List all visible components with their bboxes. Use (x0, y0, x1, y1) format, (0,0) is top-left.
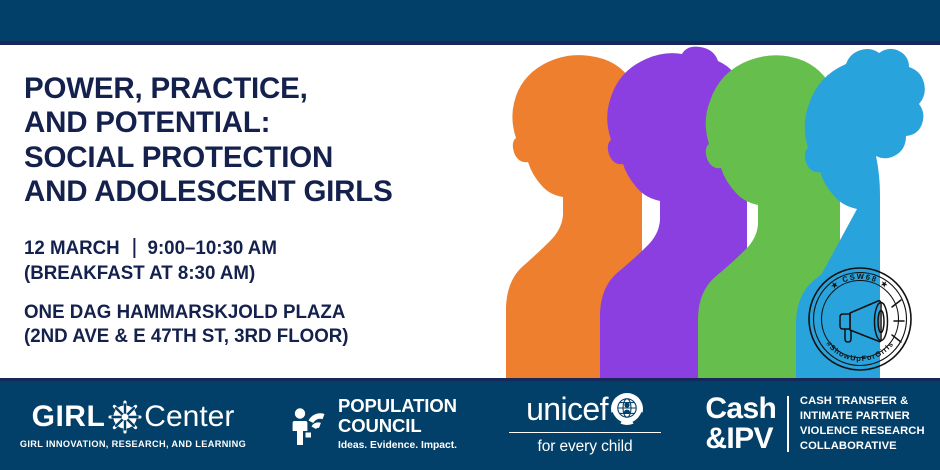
unicef-tagline: for every child (509, 438, 661, 456)
event-venue: ONE DAG HAMMARSKJOLD PLAZA (24, 300, 349, 325)
partner-logos: GIRL (0, 378, 940, 470)
person-broadcast-icon (289, 401, 329, 447)
event-date: 12 MARCH (24, 236, 120, 261)
population-council-tagline: Ideas. Evidence. Impact. (338, 441, 457, 452)
badge-event-text: ★ CSW68 ★ (829, 272, 891, 291)
logo-cash-ipv: Cash &IPV CASH TRANSFER & INTIMATE PARTN… (690, 378, 940, 470)
population-council-line2: COUNCIL (338, 416, 457, 435)
top-band-rule (0, 41, 940, 45)
unicef-globe-icon (610, 392, 644, 426)
cash-ipv-line2: &IPV (705, 424, 776, 454)
badge-hashtag-text: #ShowUpForGirls (824, 339, 895, 363)
megaphone-badge: ★ CSW68 ★ #ShowUpForGirls (804, 263, 916, 375)
logo-unicef: unicef (480, 378, 690, 470)
cash-ipv-divider (787, 396, 789, 452)
event-address: (2ND AVE & E 47TH ST, 3RD FLOOR) (24, 324, 349, 349)
unicef-wordmark: unicef (526, 393, 608, 425)
starburst-icon (108, 400, 142, 434)
badge-inner-ring (814, 273, 907, 366)
unicef-divider (509, 432, 661, 434)
logo-population-council: POPULATION COUNCIL Ideas. Evidence. Impa… (266, 378, 480, 470)
event-banner: ON THE SIDELINES OF CSW68 POWER, PRACTIC… (0, 0, 940, 470)
page-title: POWER, PRACTICE, AND POTENTIAL: SOCIAL P… (24, 72, 393, 209)
event-time: 9:00–10:30 AM (148, 236, 277, 261)
population-council-line1: POPULATION (338, 396, 457, 415)
girl-center-secondary: Center (144, 402, 234, 432)
detail-separator (133, 238, 135, 258)
breakfast-note: (BREAKFAST AT 8:30 AM) (24, 261, 349, 286)
logo-girl-center: GIRL (0, 378, 266, 470)
event-details: 12 MARCH 9:00–10:30 AM (BREAKFAST AT 8:3… (24, 236, 362, 349)
girl-center-tagline: GIRL INNOVATION, RESEARCH, AND LEARNING (20, 439, 246, 449)
cash-ipv-line1: Cash (705, 394, 776, 424)
cash-ipv-description: CASH TRANSFER & INTIMATE PARTNER VIOLENC… (800, 394, 925, 454)
top-navy-band (0, 0, 940, 41)
girl-center-main: GIRL (32, 402, 106, 432)
